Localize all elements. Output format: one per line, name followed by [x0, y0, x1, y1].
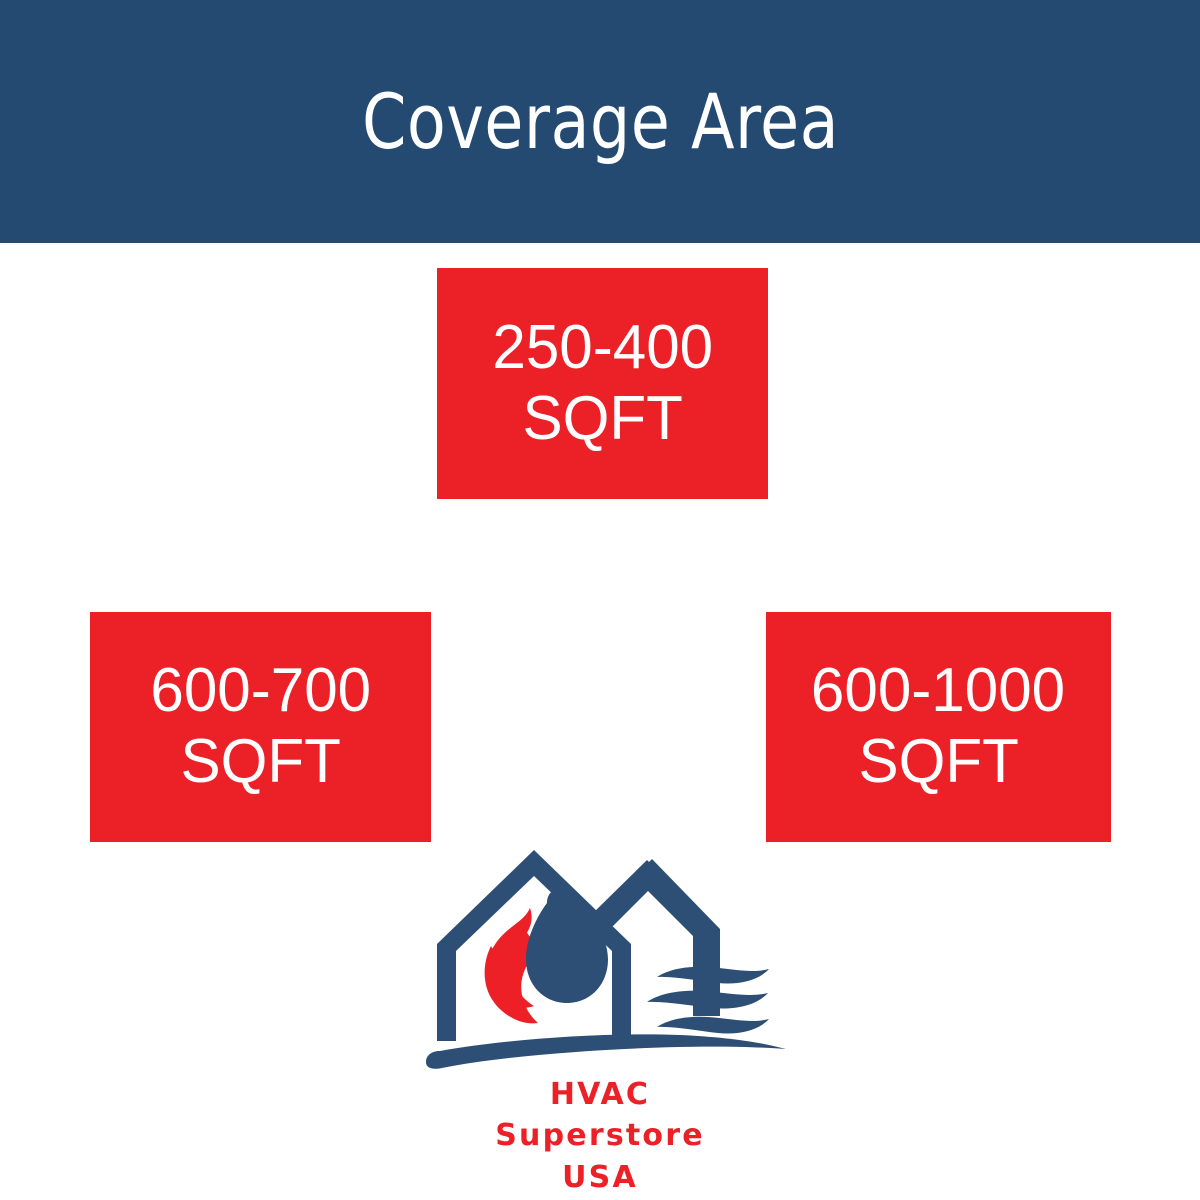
- ground-swoosh-icon: [426, 1034, 786, 1068]
- coverage-unit-label: SQFT: [522, 386, 682, 453]
- coverage-box-left: 600-700 SQFT: [90, 612, 431, 842]
- airflow-wave-line-2-icon: [647, 991, 768, 1009]
- logo-wordmark-line-1: HVAC: [400, 1074, 800, 1115]
- logo-wordmark-line-2: Superstore: [400, 1115, 800, 1156]
- coverage-box-right: 600-1000 SQFT: [766, 612, 1111, 842]
- logo-wordmark: HVAC Superstore USA: [400, 1074, 800, 1198]
- header-band: Coverage Area: [0, 0, 1200, 243]
- water-droplet-icon: [526, 890, 608, 1004]
- airflow-wave-line-3-icon: [657, 1017, 769, 1034]
- logo-wordmark-line-3: USA: [400, 1157, 800, 1198]
- coverage-unit-label: SQFT: [180, 729, 340, 796]
- coverage-range-value: 600-1000: [811, 658, 1065, 725]
- airflow-wave-line-1-icon: [657, 967, 769, 984]
- coverage-range-value: 250-400: [492, 315, 713, 382]
- coverage-range-value: 600-700: [150, 658, 371, 725]
- page-title: Coverage Area: [361, 84, 838, 160]
- coverage-box-top: 250-400 SQFT: [437, 268, 768, 499]
- coverage-unit-label: SQFT: [858, 729, 1018, 796]
- hvac-house-flame-droplet-airflow-logo: [420, 846, 790, 1076]
